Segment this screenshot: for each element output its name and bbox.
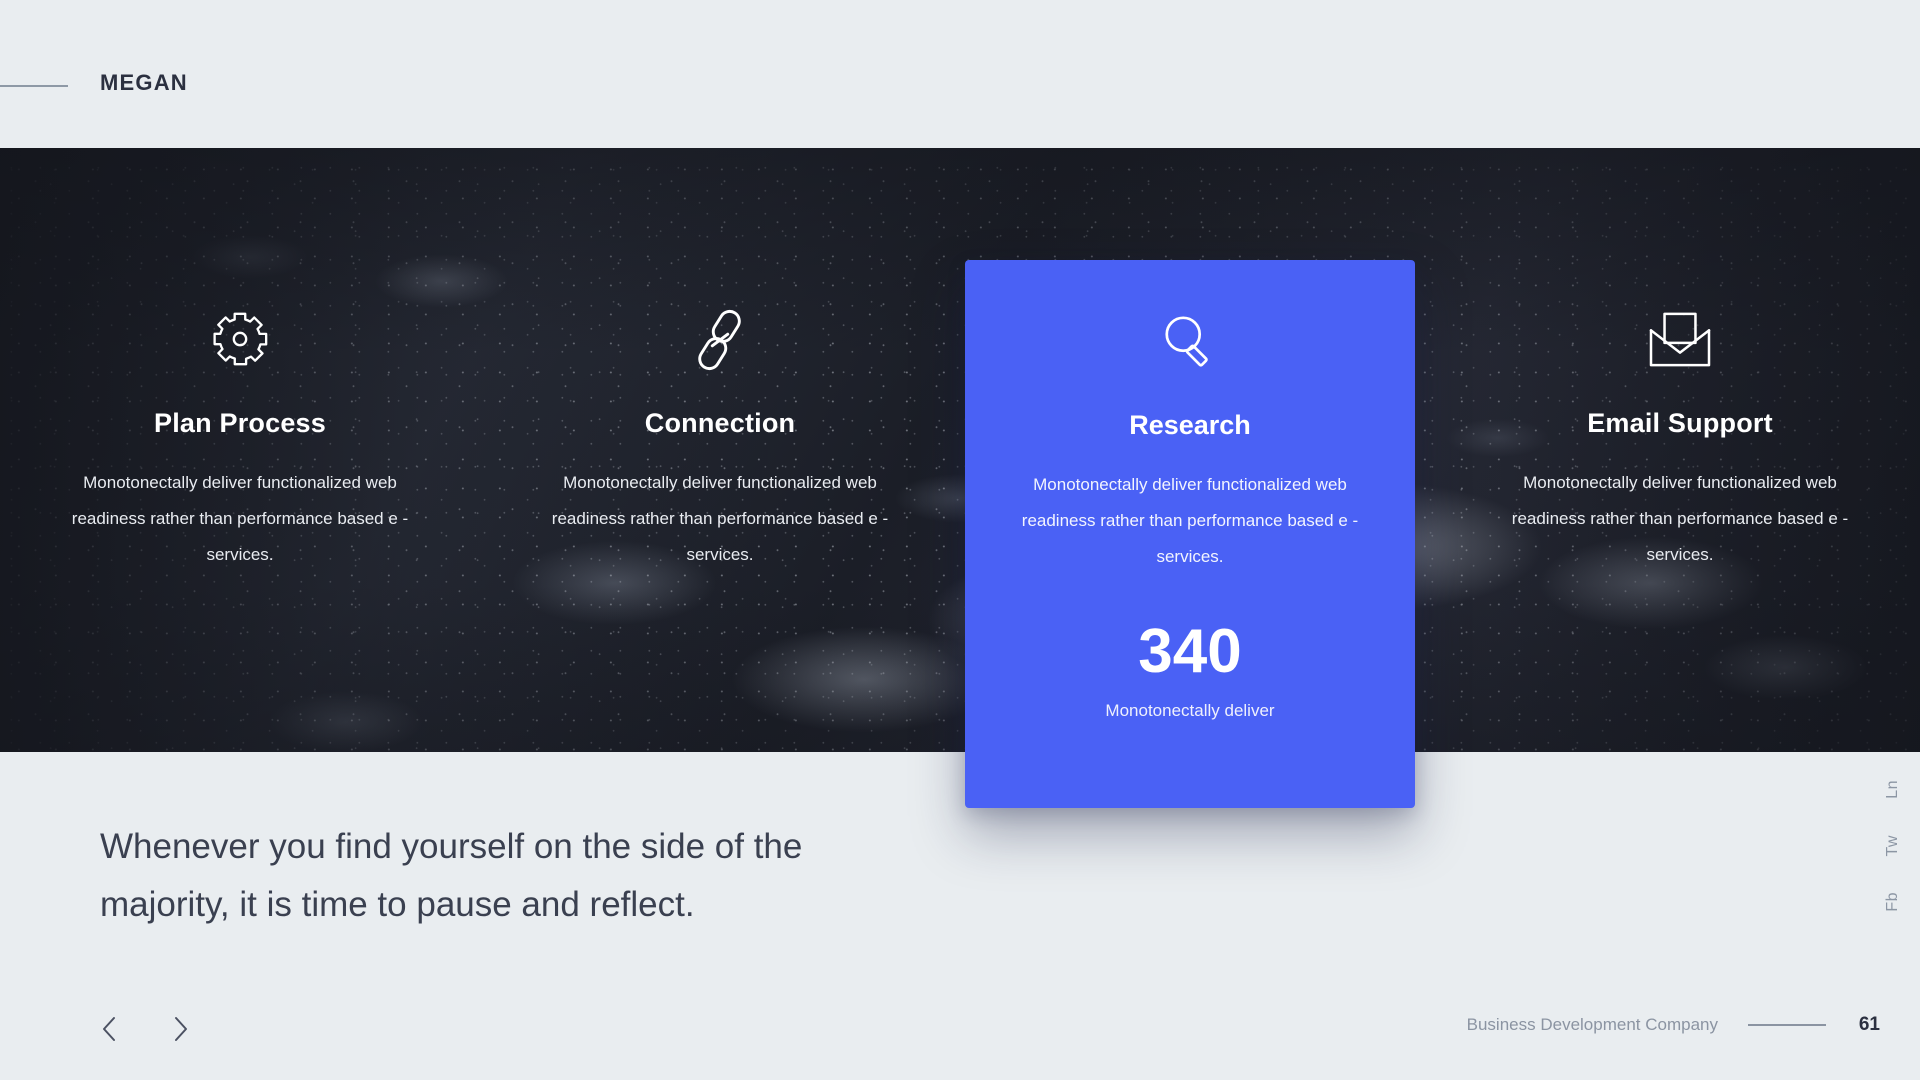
feature-connection[interactable]: Connection Monotonectally deliver functi… (480, 148, 960, 752)
search-icon (1160, 308, 1220, 376)
card-description: Monotonectally deliver functionalized we… (1010, 467, 1370, 575)
feature-description: Monotonectally deliver functionalized we… (550, 465, 890, 573)
envelope-icon (1648, 306, 1712, 374)
feature-plan-process[interactable]: Plan Process Monotonectally deliver func… (0, 148, 480, 752)
chevron-left-icon (101, 1016, 117, 1042)
brand-title: MEGAN (100, 70, 188, 96)
feature-title: Plan Process (154, 408, 326, 439)
social-rail: Ln Tw Fb (1884, 780, 1902, 912)
footer-rule-icon (1748, 1024, 1826, 1026)
chevron-right-icon (173, 1016, 189, 1042)
prev-slide-button[interactable] (96, 1016, 122, 1042)
link-icon (692, 306, 748, 374)
footer-company-label: Business Development Company (1467, 1015, 1718, 1035)
social-link-twitter[interactable]: Tw (1884, 835, 1902, 856)
feature-email-support[interactable]: Email Support Monotonectally deliver fun… (1440, 148, 1920, 752)
card-title: Research (1129, 410, 1251, 441)
card-stat-label: Monotonectally deliver (1105, 701, 1274, 721)
next-slide-button[interactable] (168, 1016, 194, 1042)
slide-header: MEGAN (0, 0, 1920, 148)
feature-title: Email Support (1587, 408, 1773, 439)
slide-root: MEGAN Plan Process Monotonectally delive… (0, 0, 1920, 1080)
research-highlight-card[interactable]: Research Monotonectally deliver function… (965, 260, 1415, 808)
header-rule-icon (0, 85, 68, 87)
slide-footer: Business Development Company 61 (1467, 1014, 1880, 1036)
feature-columns: Plan Process Monotonectally deliver func… (0, 148, 1920, 752)
page-number: 61 (1856, 1014, 1880, 1036)
slide-navigation (96, 1016, 194, 1042)
feature-title: Connection (645, 408, 796, 439)
gear-icon (209, 306, 271, 374)
feature-description: Monotonectally deliver functionalized we… (70, 465, 410, 573)
card-stat-value: 340 (1138, 621, 1241, 683)
social-link-linkedin[interactable]: Ln (1884, 780, 1902, 799)
quote-text: Whenever you find yourself on the side o… (100, 818, 920, 934)
feature-description: Monotonectally deliver functionalized we… (1510, 465, 1850, 573)
social-link-facebook[interactable]: Fb (1884, 892, 1902, 912)
